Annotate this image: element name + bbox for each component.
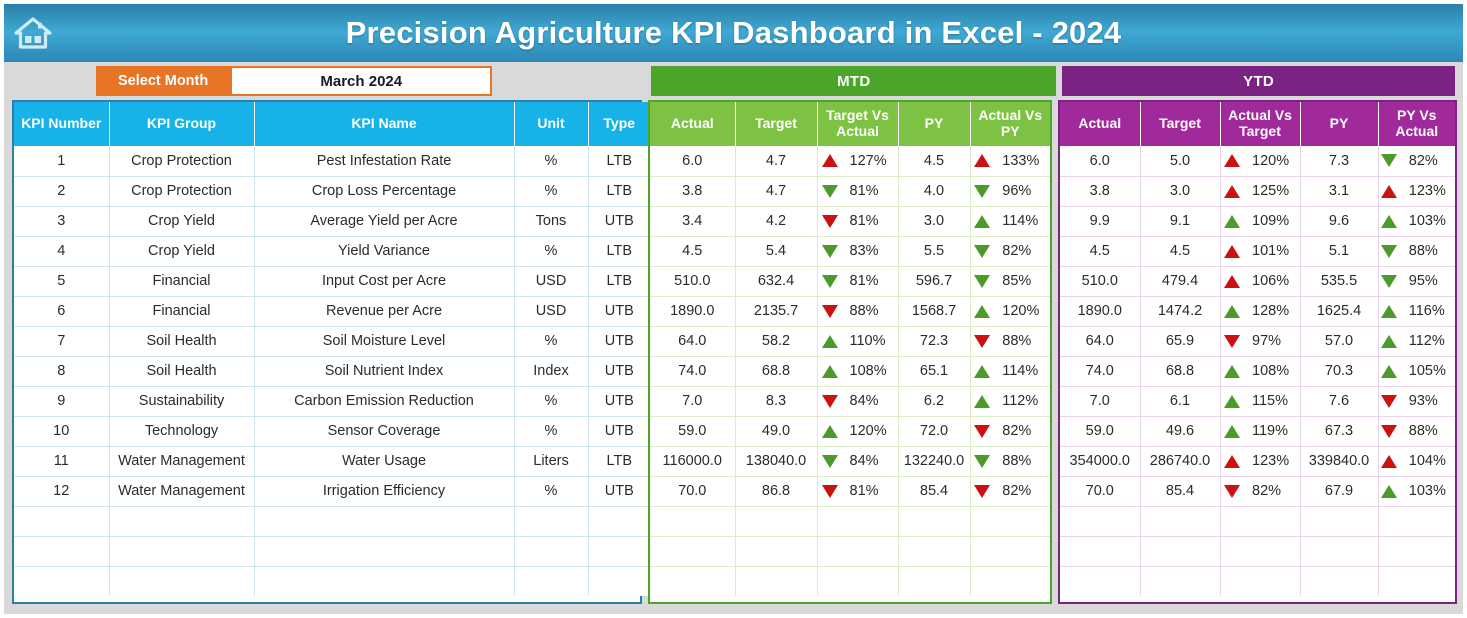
table-row: 70.086.881%85.482% [650,476,1050,506]
trend-down-icon [974,485,990,498]
mtd-target-vs-actual-cell: 81% [817,476,898,506]
table-row: 6.04.7127%4.5133% [650,146,1050,176]
kpi-group-cell: Financial [109,296,254,326]
ytd-actual-cell: 1890.0 [1060,296,1140,326]
ytd-actual-cell: 74.0 [1060,356,1140,386]
trend-up-icon [974,154,990,167]
ytd-py-cell: 70.3 [1300,356,1378,386]
empty-cell [254,506,514,536]
ytd-actual-vs-target-cell: 106% [1220,266,1300,296]
kpi-column-header: Type [588,102,650,146]
mtd-target-cell: 4.2 [735,206,817,236]
ytd-py-vs-actual-cell: 104% [1378,446,1455,476]
table-row: 4.54.5101%5.188% [1060,236,1455,266]
table-row: 7.06.1115%7.693% [1060,386,1455,416]
ytd-py-vs-actual-cell: 112% [1378,326,1455,356]
delta-value: 82% [1002,483,1046,499]
kpi-type-cell: LTB [588,236,650,266]
delta-value: 114% [1002,213,1046,229]
empty-cell [109,566,254,596]
mtd-target-cell: 5.4 [735,236,817,266]
ytd-actual-vs-target-cell: 125% [1220,176,1300,206]
kpi-group-cell: Crop Protection [109,146,254,176]
kpi-unit-cell: % [514,146,588,176]
trend-up-icon [822,335,838,348]
mtd-py-cell: 4.5 [898,146,970,176]
delta-value: 128% [1252,303,1296,319]
ytd-target-cell: 3.0 [1140,176,1220,206]
kpi-group-cell: Soil Health [109,356,254,386]
trend-down-icon [1224,485,1240,498]
empty-cell [898,566,970,596]
kpi-name-cell: Water Usage [254,446,514,476]
mtd-target-cell: 2135.7 [735,296,817,326]
delta-value: 112% [1002,393,1046,409]
ytd-target-cell: 6.1 [1140,386,1220,416]
delta-value: 81% [850,273,894,289]
delta-value: 82% [1002,423,1046,439]
ytd-py-cell: 1625.4 [1300,296,1378,326]
delta-value: 127% [850,153,894,169]
trend-up-icon [1381,305,1397,318]
empty-cell [1378,506,1455,536]
kpi-type-cell: UTB [588,416,650,446]
kpi-number-cell: 11 [14,446,109,476]
ytd-py-vs-actual-cell: 82% [1378,146,1455,176]
home-button[interactable] [6,6,60,60]
kpi-type-cell: UTB [588,386,650,416]
ytd-py-cell: 339840.0 [1300,446,1378,476]
trend-up-icon [822,154,838,167]
table-row: 1Crop ProtectionPest Infestation Rate%LT… [14,146,650,176]
mtd-actual-vs-py-cell: 114% [970,356,1050,386]
ytd-target-cell: 68.8 [1140,356,1220,386]
trend-up-icon [1224,455,1240,468]
ytd-py-cell: 535.5 [1300,266,1378,296]
empty-cell [14,566,109,596]
kpi-name-cell: Crop Loss Percentage [254,176,514,206]
table-row: 116000.0138040.084%132240.088% [650,446,1050,476]
kpi-name-cell: Sensor Coverage [254,416,514,446]
table-row: 4.55.483%5.582% [650,236,1050,266]
table-row: 10TechnologySensor Coverage%UTB [14,416,650,446]
empty-row [1060,536,1455,566]
empty-cell [588,566,650,596]
delta-value: 103% [1409,483,1453,499]
trend-up-icon [1381,215,1397,228]
empty-row [14,506,650,536]
delta-value: 105% [1409,363,1453,379]
trend-down-icon [822,275,838,288]
delta-value: 108% [1252,363,1296,379]
mtd-actual-cell: 74.0 [650,356,735,386]
empty-cell [1220,536,1300,566]
delta-value: 106% [1252,273,1296,289]
empty-cell [14,506,109,536]
mtd-actual-vs-py-cell: 114% [970,206,1050,236]
ytd-actual-vs-target-cell: 115% [1220,386,1300,416]
table-row: 64.058.2110%72.388% [650,326,1050,356]
table-row: 9.99.1109%9.6103% [1060,206,1455,236]
month-selector-segment: Select Month March 2024 [12,66,648,96]
table-row: 6.05.0120%7.382% [1060,146,1455,176]
delta-value: 104% [1409,453,1453,469]
select-month-label[interactable]: Select Month [96,66,230,96]
empty-cell [1220,506,1300,536]
empty-row [1060,566,1455,596]
kpi-number-cell: 10 [14,416,109,446]
ytd-target-cell: 4.5 [1140,236,1220,266]
trend-up-icon [974,215,990,228]
delta-value: 84% [850,393,894,409]
empty-cell [735,536,817,566]
trend-down-icon [974,455,990,468]
ytd-column-header: Target [1140,102,1220,146]
ytd-target-cell: 286740.0 [1140,446,1220,476]
mtd-target-vs-actual-cell: 83% [817,236,898,266]
dashboard-page: Precision Agriculture KPI Dashboard in E… [0,0,1467,618]
mtd-py-cell: 1568.7 [898,296,970,326]
kpi-unit-cell: % [514,236,588,266]
trend-up-icon [822,365,838,378]
trend-down-icon [822,485,838,498]
mtd-actual-cell: 7.0 [650,386,735,416]
ytd-actual-cell: 64.0 [1060,326,1140,356]
ytd-py-vs-actual-cell: 103% [1378,476,1455,506]
empty-cell [970,566,1050,596]
mtd-py-cell: 5.5 [898,236,970,266]
table-row: 3.83.0125%3.1123% [1060,176,1455,206]
kpi-column-header: KPI Name [254,102,514,146]
trend-up-icon [1381,335,1397,348]
ytd-py-cell: 57.0 [1300,326,1378,356]
kpi-definition-table: KPI NumberKPI GroupKPI NameUnitType 1Cro… [14,102,650,596]
trend-up-icon [1224,395,1240,408]
trend-down-icon [974,335,990,348]
ytd-target-cell: 9.1 [1140,206,1220,236]
delta-value: 133% [1002,153,1046,169]
trend-up-icon [1224,185,1240,198]
mtd-target-vs-actual-cell: 127% [817,146,898,176]
kpi-unit-cell: % [514,476,588,506]
kpi-group-cell: Soil Health [109,326,254,356]
empty-cell [14,536,109,566]
mtd-column-header: Actual Vs PY [970,102,1050,146]
mtd-block: ActualTargetTarget Vs ActualPYActual Vs … [648,100,1052,604]
month-selector[interactable]: Select Month March 2024 [96,66,492,96]
trend-up-icon [1224,215,1240,228]
empty-cell [970,536,1050,566]
delta-value: 82% [1002,243,1046,259]
table-row: 3.84.781%4.096% [650,176,1050,206]
table-row: 1890.01474.2128%1625.4116% [1060,296,1455,326]
empty-cell [817,566,898,596]
ytd-py-vs-actual-cell: 116% [1378,296,1455,326]
ytd-actual-cell: 7.0 [1060,386,1140,416]
trend-up-icon [1224,245,1240,258]
ytd-actual-vs-target-cell: 128% [1220,296,1300,326]
kpi-column-header: KPI Number [14,102,109,146]
empty-row [14,536,650,566]
kpi-number-cell: 3 [14,206,109,236]
mtd-actual-vs-py-cell: 82% [970,476,1050,506]
empty-cell [817,536,898,566]
table-row: 1890.02135.788%1568.7120% [650,296,1050,326]
mtd-actual-vs-py-cell: 96% [970,176,1050,206]
delta-value: 88% [1002,333,1046,349]
mtd-actual-cell: 1890.0 [650,296,735,326]
empty-cell [650,506,735,536]
ytd-actual-vs-target-cell: 82% [1220,476,1300,506]
kpi-number-cell: 2 [14,176,109,206]
ytd-column-header: Actual Vs Target [1220,102,1300,146]
page-title: Precision Agriculture KPI Dashboard in E… [4,15,1463,51]
ytd-actual-cell: 9.9 [1060,206,1140,236]
ytd-actual-vs-target-cell: 97% [1220,326,1300,356]
empty-cell [254,536,514,566]
mtd-target-vs-actual-cell: 84% [817,446,898,476]
trend-up-icon [822,425,838,438]
mtd-actual-cell: 6.0 [650,146,735,176]
empty-cell [109,506,254,536]
trend-down-icon [1381,275,1397,288]
mtd-actual-cell: 3.4 [650,206,735,236]
delta-value: 93% [1409,393,1453,409]
mtd-header-row: ActualTargetTarget Vs ActualPYActual Vs … [650,102,1050,146]
mtd-actual-vs-py-cell: 88% [970,326,1050,356]
kpi-number-cell: 7 [14,326,109,356]
mtd-band-segment: MTD [648,66,1056,96]
trend-down-icon [974,185,990,198]
mtd-target-vs-actual-cell: 81% [817,176,898,206]
ytd-actual-vs-target-cell: 108% [1220,356,1300,386]
delta-value: 96% [1002,183,1046,199]
empty-cell [1060,536,1140,566]
trend-up-icon [1224,275,1240,288]
kpi-column-header: KPI Group [109,102,254,146]
kpi-unit-cell: USD [514,266,588,296]
ytd-actual-vs-target-cell: 123% [1220,446,1300,476]
table-row: 70.085.482%67.9103% [1060,476,1455,506]
kpi-group-cell: Technology [109,416,254,446]
empty-cell [254,566,514,596]
mtd-actual-cell: 59.0 [650,416,735,446]
empty-cell [1378,566,1455,596]
kpi-type-cell: LTB [588,446,650,476]
trend-up-icon [974,395,990,408]
delta-value: 119% [1252,423,1296,439]
delta-value: 88% [850,303,894,319]
trend-down-icon [822,245,838,258]
delta-value: 81% [850,183,894,199]
ytd-py-cell: 7.3 [1300,146,1378,176]
delta-value: 114% [1002,363,1046,379]
mtd-py-cell: 6.2 [898,386,970,416]
mtd-py-cell: 85.4 [898,476,970,506]
ytd-target-cell: 1474.2 [1140,296,1220,326]
mtd-actual-cell: 64.0 [650,326,735,356]
empty-cell [970,506,1050,536]
empty-cell [1378,536,1455,566]
trend-up-icon [1224,154,1240,167]
ytd-py-cell: 7.6 [1300,386,1378,416]
trend-down-icon [1381,425,1397,438]
trend-down-icon [1381,395,1397,408]
kpi-column-header: Unit [514,102,588,146]
table-row: 8Soil HealthSoil Nutrient IndexIndexUTB [14,356,650,386]
ytd-py-vs-actual-cell: 123% [1378,176,1455,206]
trend-down-icon [1381,154,1397,167]
empty-cell [1140,536,1220,566]
kpi-name-cell: Input Cost per Acre [254,266,514,296]
mtd-column-header: Actual [650,102,735,146]
mtd-py-cell: 4.0 [898,176,970,206]
kpi-name-cell: Soil Moisture Level [254,326,514,356]
mtd-actual-cell: 510.0 [650,266,735,296]
mtd-actual-vs-py-cell: 82% [970,416,1050,446]
trend-up-icon [1381,185,1397,198]
delta-value: 120% [1252,153,1296,169]
kpi-type-cell: UTB [588,296,650,326]
kpi-number-cell: 4 [14,236,109,266]
mtd-target-cell: 68.8 [735,356,817,386]
ytd-actual-cell: 6.0 [1060,146,1140,176]
ytd-target-cell: 49.6 [1140,416,1220,446]
kpi-type-cell: LTB [588,146,650,176]
kpi-name-cell: Irrigation Efficiency [254,476,514,506]
mtd-actual-cell: 116000.0 [650,446,735,476]
delta-value: 125% [1252,183,1296,199]
kpi-number-cell: 9 [14,386,109,416]
trend-down-icon [1381,245,1397,258]
mtd-actual-vs-py-cell: 85% [970,266,1050,296]
kpi-type-cell: UTB [588,326,650,356]
mtd-target-cell: 49.0 [735,416,817,446]
delta-value: 95% [1409,273,1453,289]
mtd-py-cell: 65.1 [898,356,970,386]
table-row: 59.049.0120%72.082% [650,416,1050,446]
kpi-unit-cell: Tons [514,206,588,236]
mtd-target-cell: 4.7 [735,146,817,176]
ytd-column-header: PY [1300,102,1378,146]
trend-up-icon [1381,365,1397,378]
kpi-group-cell: Water Management [109,446,254,476]
mtd-py-cell: 3.0 [898,206,970,236]
kpi-number-cell: 5 [14,266,109,296]
table-row: 7Soil HealthSoil Moisture Level%UTB [14,326,650,356]
ytd-target-cell: 85.4 [1140,476,1220,506]
empty-cell [514,566,588,596]
kpi-name-cell: Pest Infestation Rate [254,146,514,176]
trend-down-icon [822,185,838,198]
delta-value: 109% [1252,213,1296,229]
ytd-band-segment: YTD [1056,66,1455,96]
delta-value: 108% [850,363,894,379]
empty-cell [109,536,254,566]
kpi-type-cell: UTB [588,206,650,236]
table-row: 354000.0286740.0123%339840.0104% [1060,446,1455,476]
delta-value: 88% [1002,453,1046,469]
ytd-py-vs-actual-cell: 93% [1378,386,1455,416]
delta-value: 81% [850,213,894,229]
delta-value: 112% [1409,333,1453,349]
kpi-group-cell: Crop Yield [109,236,254,266]
table-row: 4Crop YieldYield Variance%LTB [14,236,650,266]
delta-value: 85% [1002,273,1046,289]
ytd-actual-cell: 4.5 [1060,236,1140,266]
kpi-unit-cell: % [514,386,588,416]
mtd-target-cell: 138040.0 [735,446,817,476]
ytd-py-vs-actual-cell: 88% [1378,416,1455,446]
empty-cell [650,536,735,566]
delta-value: 116% [1409,303,1453,319]
table-row: 2Crop ProtectionCrop Loss Percentage%LTB [14,176,650,206]
ytd-actual-vs-target-cell: 109% [1220,206,1300,236]
mtd-table: ActualTargetTarget Vs ActualPYActual Vs … [650,102,1050,596]
table-row: 74.068.8108%65.1114% [650,356,1050,386]
ytd-actual-cell: 70.0 [1060,476,1140,506]
empty-cell [650,566,735,596]
tables-area: KPI NumberKPI GroupKPI NameUnitType 1Cro… [4,100,1463,614]
kpi-name-cell: Average Yield per Acre [254,206,514,236]
ytd-py-vs-actual-cell: 88% [1378,236,1455,266]
ytd-py-vs-actual-cell: 105% [1378,356,1455,386]
mtd-py-cell: 596.7 [898,266,970,296]
kpi-unit-cell: % [514,176,588,206]
empty-cell [514,506,588,536]
trend-down-icon [822,455,838,468]
table-row: 3.44.281%3.0114% [650,206,1050,236]
mtd-actual-vs-py-cell: 88% [970,446,1050,476]
kpi-name-cell: Carbon Emission Reduction [254,386,514,416]
ytd-table: ActualTargetActual Vs TargetPYPY Vs Actu… [1060,102,1455,596]
delta-value: 82% [1409,153,1453,169]
mtd-target-cell: 4.7 [735,176,817,206]
ytd-body: 6.05.0120%7.382%3.83.0125%3.1123%9.99.11… [1060,146,1455,596]
kpi-number-cell: 12 [14,476,109,506]
selected-month-value[interactable]: March 2024 [230,66,492,96]
empty-cell [898,506,970,536]
empty-cell [1300,536,1378,566]
ytd-column-header: PY Vs Actual [1378,102,1455,146]
table-row: 3Crop YieldAverage Yield per AcreTonsUTB [14,206,650,236]
mtd-target-vs-actual-cell: 81% [817,206,898,236]
ytd-target-cell: 5.0 [1140,146,1220,176]
trend-down-icon [974,245,990,258]
trend-up-icon [974,365,990,378]
empty-row [650,566,1050,596]
ytd-block: ActualTargetActual Vs TargetPYPY Vs Actu… [1058,100,1457,604]
mtd-target-vs-actual-cell: 88% [817,296,898,326]
table-row: 74.068.8108%70.3105% [1060,356,1455,386]
ytd-target-cell: 479.4 [1140,266,1220,296]
trend-up-icon [1224,305,1240,318]
kpi-unit-cell: % [514,416,588,446]
delta-value: 110% [850,333,894,349]
delta-value: 81% [850,483,894,499]
ytd-actual-cell: 59.0 [1060,416,1140,446]
delta-value: 115% [1252,393,1296,409]
ytd-column-header: Actual [1060,102,1140,146]
mtd-py-cell: 72.3 [898,326,970,356]
empty-cell [588,506,650,536]
empty-row [1060,506,1455,536]
mtd-actual-vs-py-cell: 133% [970,146,1050,176]
kpi-unit-cell: Liters [514,446,588,476]
empty-cell [1220,566,1300,596]
mtd-section-band: MTD [651,66,1056,96]
delta-value: 84% [850,453,894,469]
